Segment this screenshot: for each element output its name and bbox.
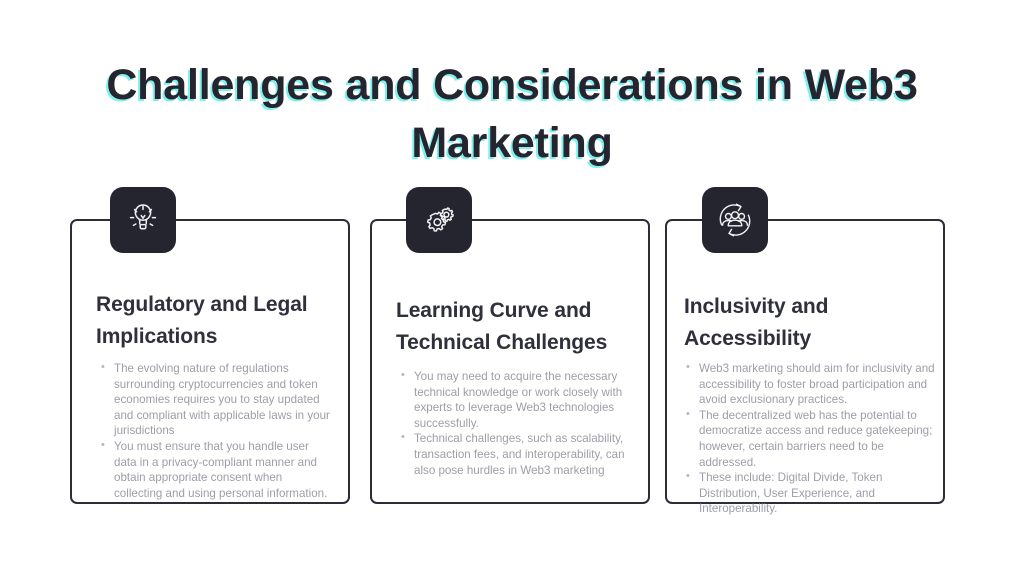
- gears-icon: [419, 200, 459, 240]
- card-bullet-list: The evolving nature of regulations surro…: [98, 361, 332, 501]
- list-item: You may need to acquire the necessary te…: [398, 369, 634, 431]
- list-item: You must ensure that you handle user dat…: [98, 439, 332, 501]
- card-regulatory-legal[interactable]: Regulatory and Legal Implications The ev…: [70, 219, 350, 504]
- list-item: The evolving nature of regulations surro…: [98, 361, 332, 439]
- card-icon-badge-regulatory: [110, 187, 176, 253]
- card-bullet-list: You may need to acquire the necessary te…: [398, 369, 634, 478]
- list-item: These include: Digital Divide, Token Dis…: [683, 470, 939, 517]
- card-inclusivity-accessibility[interactable]: Inclusivity and Accessibility Web3 marke…: [665, 219, 945, 504]
- lightbulb-icon: [123, 200, 163, 240]
- card-heading: Inclusivity and Accessibility: [684, 291, 933, 355]
- card-icon-badge-inclusivity: [702, 187, 768, 253]
- card-heading: Regulatory and Legal Implications: [96, 289, 338, 353]
- card-bullet-list: Web3 marketing should aim for inclusivit…: [683, 361, 939, 517]
- page-title: Challenges and Considerations in Web3 Ma…: [62, 56, 962, 172]
- cards-row: Regulatory and Legal Implications The ev…: [0, 187, 1024, 517]
- list-item: The decentralized web has the potential …: [683, 408, 939, 470]
- slide-canvas: Challenges and Considerations in Web3 Ma…: [0, 0, 1024, 585]
- card-learning-curve[interactable]: Learning Curve and Technical Challenges …: [370, 219, 650, 504]
- list-item: Web3 marketing should aim for inclusivit…: [683, 361, 939, 408]
- card-heading: Learning Curve and Technical Challenges: [396, 295, 638, 359]
- card-icon-badge-learning: [406, 187, 472, 253]
- list-item: Technical challenges, such as scalabilit…: [398, 431, 634, 478]
- people-cycle-icon: [714, 199, 756, 241]
